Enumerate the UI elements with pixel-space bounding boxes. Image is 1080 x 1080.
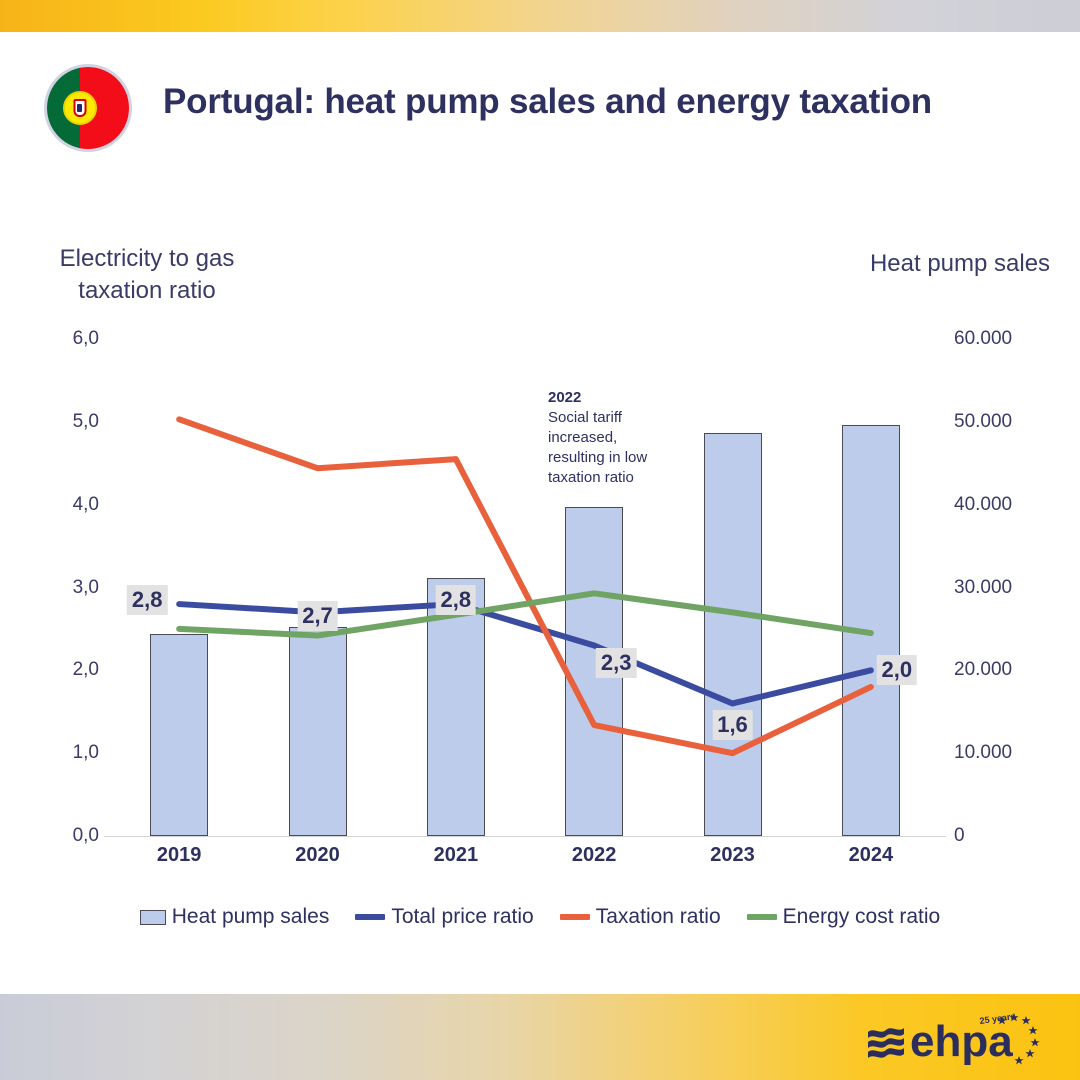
chart-annotation: 2022 Social tariff increased, resulting … — [548, 388, 658, 488]
x-label-2019: 2019 — [157, 844, 202, 867]
legend-label: Taxation ratio — [596, 905, 721, 929]
legend-item-total-price-ratio[interactable]: Total price ratio — [355, 905, 533, 929]
left-axis-tick: 3,0 — [73, 577, 99, 599]
left-axis-tick: 6,0 — [73, 328, 99, 350]
line-energy-cost-ratio — [179, 593, 871, 635]
legend-item-heat-pump-sales[interactable]: Heat pump sales — [140, 905, 330, 929]
svg-text:ehpa: ehpa — [910, 1017, 1013, 1066]
x-label-2020: 2020 — [295, 844, 340, 867]
legend-swatch — [355, 914, 385, 920]
legend-swatch — [140, 910, 166, 925]
legend-swatch — [747, 914, 777, 920]
chart-legend: Heat pump salesTotal price ratioTaxation… — [0, 905, 1080, 929]
left-axis-title: Electricity to gas taxation ratio — [52, 243, 242, 307]
right-axis-tick: 20.000 — [954, 659, 1012, 681]
ehpa-logo: ehpa 25 years — [862, 1004, 1052, 1066]
x-label-2023: 2023 — [710, 844, 755, 867]
page-title: Portugal: heat pump sales and energy tax… — [163, 82, 1043, 122]
data-label-2021: 2,8 — [436, 585, 477, 615]
right-axis-tick: 50.000 — [954, 411, 1012, 433]
legend-item-energy-cost-ratio[interactable]: Energy cost ratio — [747, 905, 941, 929]
legend-label: Total price ratio — [391, 905, 533, 929]
chart-plot-area: 0,01,02,03,04,05,06,0 010.00020.00030.00… — [110, 339, 940, 836]
line-taxation-ratio — [179, 419, 871, 753]
right-axis-tick: 0 — [954, 825, 965, 847]
annotation-text: Social tariff increased, resulting in lo… — [548, 409, 647, 486]
data-label-2023: 1,6 — [712, 710, 753, 740]
right-axis-tick: 10.000 — [954, 742, 1012, 764]
left-axis-tick: 4,0 — [73, 494, 99, 516]
legend-label: Energy cost ratio — [783, 905, 941, 929]
left-axis-tick: 1,0 — [73, 742, 99, 764]
data-label-2019: 2,8 — [127, 585, 168, 615]
right-axis-tick: 30.000 — [954, 577, 1012, 599]
portugal-flag-icon — [47, 67, 129, 149]
right-axis-tick: 40.000 — [954, 494, 1012, 516]
left-axis-tick: 0,0 — [73, 825, 99, 847]
data-label-2022: 2,3 — [596, 648, 637, 678]
flag-armillary-sphere — [63, 91, 97, 125]
x-label-2022: 2022 — [572, 844, 617, 867]
flag-shield — [73, 99, 86, 117]
x-label-2021: 2021 — [434, 844, 479, 867]
right-axis-tick: 60.000 — [954, 328, 1012, 350]
left-axis-tick: 2,0 — [73, 659, 99, 681]
header-gradient-band — [0, 0, 1080, 32]
x-axis-line — [104, 836, 946, 837]
left-axis-tick: 5,0 — [73, 411, 99, 433]
data-label-2024: 2,0 — [877, 655, 918, 685]
data-label-2020: 2,7 — [297, 601, 338, 631]
annotation-year: 2022 — [548, 388, 658, 408]
legend-item-taxation-ratio[interactable]: Taxation ratio — [560, 905, 721, 929]
right-axis-title: Heat pump sales — [860, 248, 1060, 280]
legend-swatch — [560, 914, 590, 920]
legend-label: Heat pump sales — [172, 905, 330, 929]
x-label-2024: 2024 — [849, 844, 894, 867]
line-series — [110, 339, 940, 836]
